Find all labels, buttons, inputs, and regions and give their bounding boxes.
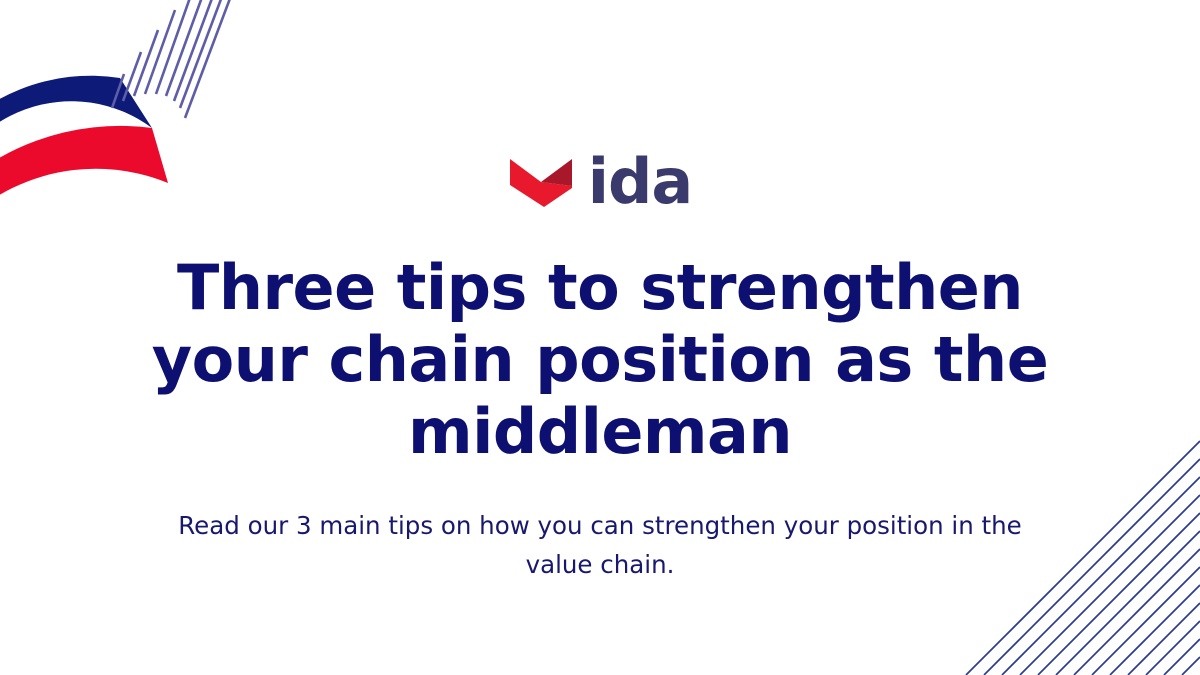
page-title: Three tips to strengthen your chain posi…: [125, 252, 1075, 468]
slide-canvas: ida Three tips to strengthen your chain …: [0, 0, 1200, 675]
slide-content: ida Three tips to strengthen your chain …: [0, 0, 1200, 675]
brand-wordmark: ida: [588, 151, 692, 213]
brand-logo: ida: [508, 146, 692, 218]
page-subtitle: Read our 3 main tips on how you can stre…: [155, 506, 1045, 585]
ida-chevron-logo-icon: [508, 155, 574, 209]
